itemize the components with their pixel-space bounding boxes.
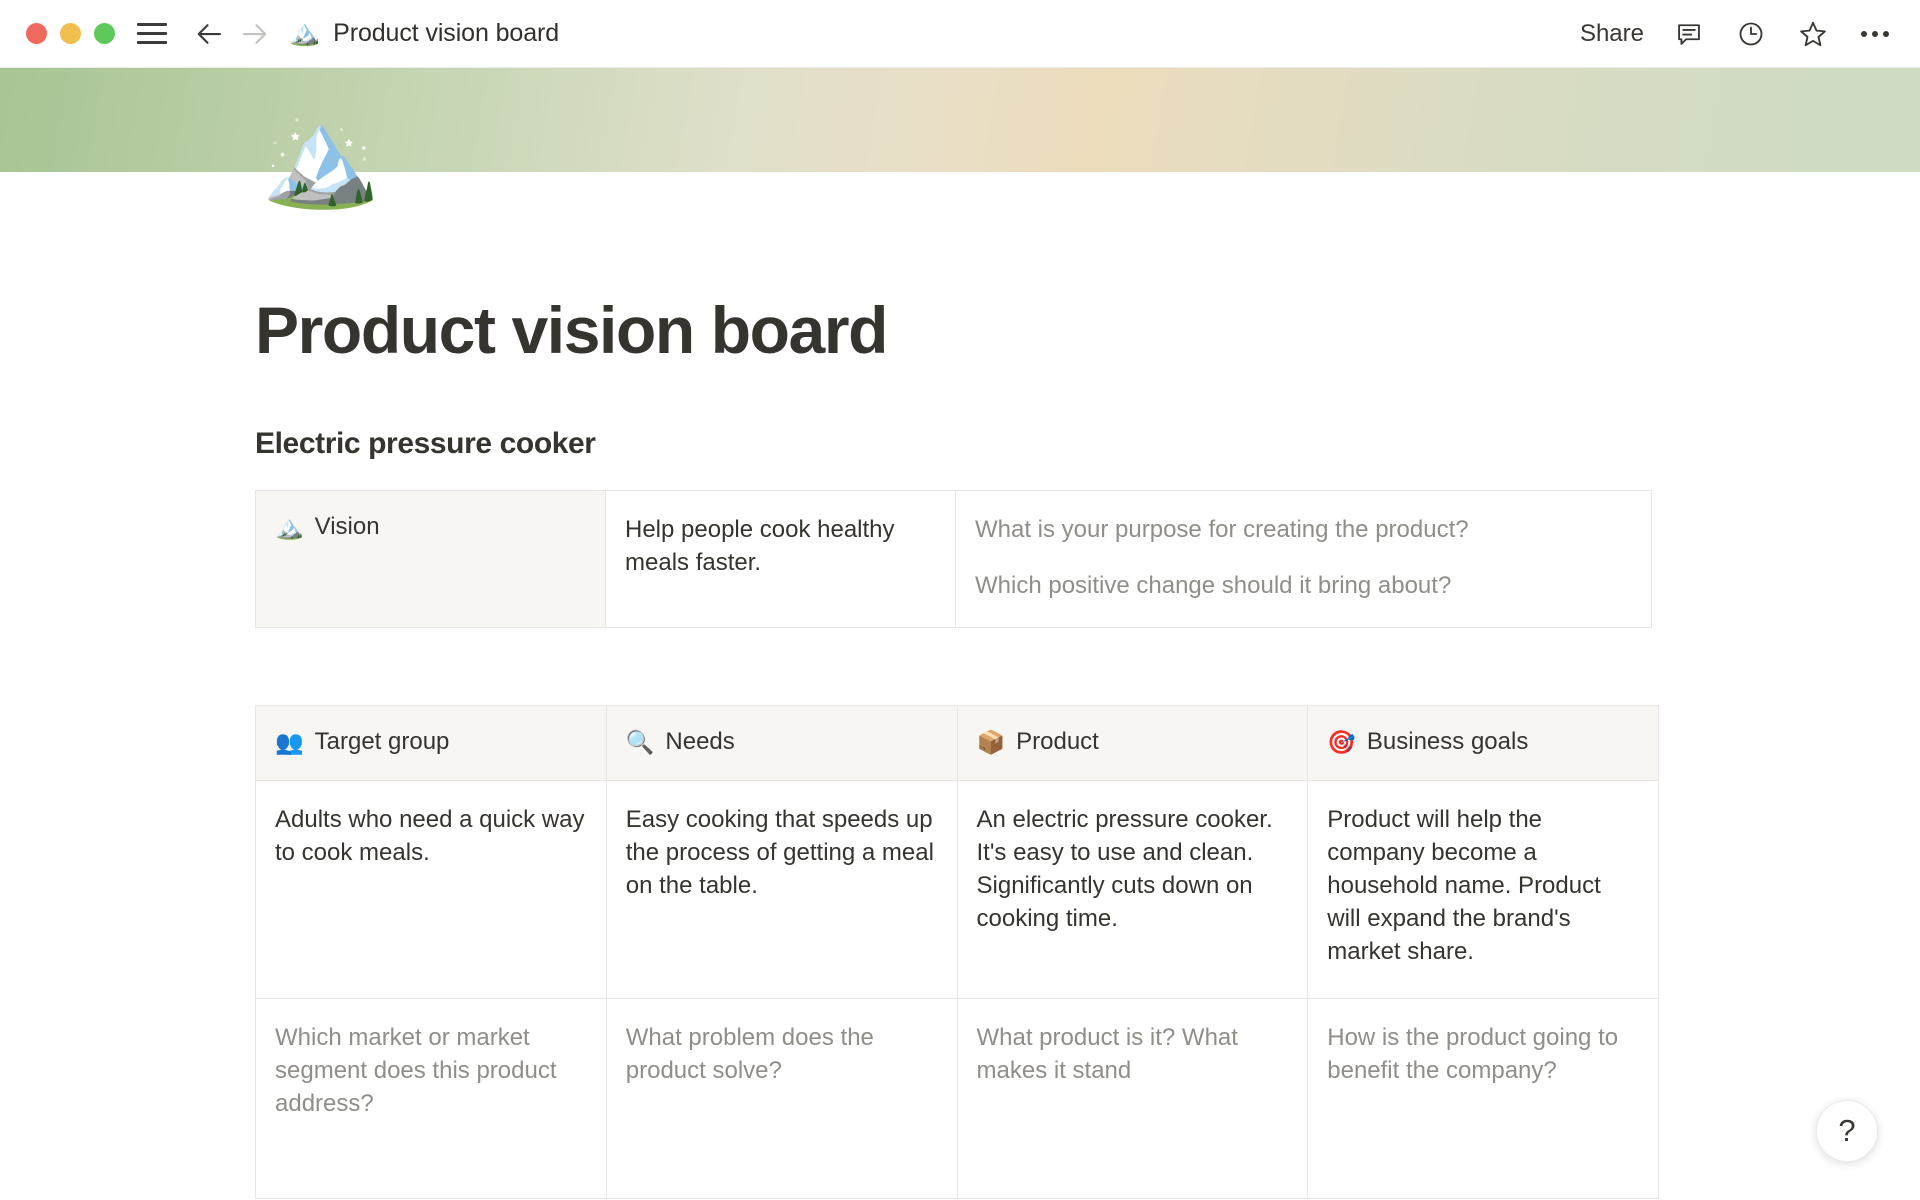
hint-cell-business-goals[interactable]: How is the product going to benefit the … bbox=[1308, 998, 1659, 1198]
favorite-star-icon[interactable] bbox=[1796, 17, 1830, 51]
page-mountain-icon[interactable]: 🏔️ bbox=[261, 110, 1880, 230]
hamburger-menu-icon[interactable] bbox=[137, 23, 167, 44]
value-cell-business-goals[interactable]: Product will help the company become a h… bbox=[1308, 780, 1659, 998]
value-cell-product[interactable]: An electric pressure cooker. It's easy t… bbox=[957, 780, 1308, 998]
header-cell-needs[interactable]: 🔍Needs bbox=[606, 705, 957, 780]
hint-cell-target-group[interactable]: Which market or market segment does this… bbox=[256, 998, 607, 1198]
hint-cell-needs[interactable]: What problem does the product solve? bbox=[606, 998, 957, 1198]
header-label-needs: Needs bbox=[665, 728, 734, 755]
value-cell-needs[interactable]: Easy cooking that speeds up the process … bbox=[606, 780, 957, 998]
page-title: Product vision board bbox=[255, 296, 1880, 365]
goals-table: 👥Target group 🔍Needs 📦Product 🎯Business … bbox=[255, 705, 1659, 1199]
mountain-emoji: 🏔️ bbox=[275, 514, 304, 541]
header-cell-business-goals[interactable]: 🎯Business goals bbox=[1308, 705, 1659, 780]
minimize-window-button[interactable] bbox=[60, 23, 81, 44]
forward-arrow-icon[interactable] bbox=[237, 17, 271, 51]
people-emoji: 👥 bbox=[275, 729, 304, 756]
table-row: Adults who need a quick way to cook meal… bbox=[256, 780, 1659, 998]
window-titlebar: 🏔️ Product vision board Share bbox=[0, 0, 1920, 68]
comment-icon[interactable] bbox=[1672, 17, 1706, 51]
section-heading: Electric pressure cooker bbox=[255, 427, 1880, 461]
header-label-target-group: Target group bbox=[315, 728, 450, 755]
share-button[interactable]: Share bbox=[1580, 20, 1644, 48]
header-label-business-goals: Business goals bbox=[1367, 728, 1528, 755]
back-arrow-icon[interactable] bbox=[193, 17, 227, 51]
table-spacer bbox=[255, 628, 1880, 676]
vision-hint-1: What is your purpose for creating the pr… bbox=[975, 513, 1632, 546]
maximize-window-button[interactable] bbox=[94, 23, 115, 44]
package-emoji: 📦 bbox=[977, 729, 1006, 756]
table-row: 🏔️Vision Help people cook healthy meals … bbox=[256, 491, 1652, 627]
vision-table: 🏔️Vision Help people cook healthy meals … bbox=[255, 490, 1652, 627]
table-row: Which market or market segment does this… bbox=[256, 998, 1659, 1198]
header-cell-target-group[interactable]: 👥Target group bbox=[256, 705, 607, 780]
header-label-product: Product bbox=[1016, 728, 1099, 755]
question-mark-icon: ? bbox=[1838, 1113, 1855, 1149]
vision-label-text: Vision bbox=[315, 513, 380, 540]
vision-hint-2: Which positive change should it bring ab… bbox=[975, 569, 1632, 602]
help-button[interactable]: ? bbox=[1816, 1100, 1878, 1162]
more-options-icon[interactable] bbox=[1858, 17, 1892, 51]
vision-value-cell[interactable]: Help people cook healthy meals faster. bbox=[606, 491, 956, 627]
table-header-row: 👥Target group 🔍Needs 📦Product 🎯Business … bbox=[256, 705, 1659, 780]
value-cell-target-group[interactable]: Adults who need a quick way to cook meal… bbox=[256, 780, 607, 998]
close-window-button[interactable] bbox=[26, 23, 47, 44]
magnifier-emoji: 🔍 bbox=[626, 729, 655, 756]
hint-cell-product[interactable]: What product is it? What makes it stand bbox=[957, 998, 1308, 1198]
vision-hint-cell[interactable]: What is your purpose for creating the pr… bbox=[956, 491, 1652, 627]
document-mountain-icon: 🏔️ bbox=[289, 21, 320, 46]
target-emoji: 🎯 bbox=[1327, 729, 1356, 756]
history-clock-icon[interactable] bbox=[1734, 17, 1768, 51]
page-content: 🏔️ Product vision board Electric pressur… bbox=[0, 110, 1920, 1199]
header-cell-product[interactable]: 📦Product bbox=[957, 705, 1308, 780]
titlebar-actions: Share bbox=[1580, 17, 1892, 51]
window-traffic-lights bbox=[26, 23, 115, 44]
vision-label-cell[interactable]: 🏔️Vision bbox=[256, 491, 606, 627]
document-title: Product vision board bbox=[333, 19, 559, 48]
